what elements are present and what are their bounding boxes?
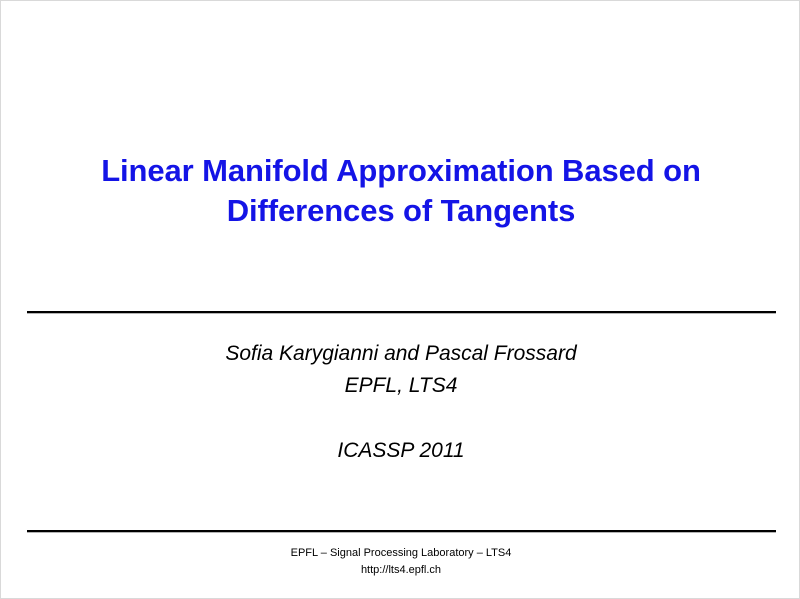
title-line-1: Linear Manifold Approximation Based on: [27, 151, 775, 191]
slide-footer: EPFL – Signal Processing Laboratory – LT…: [1, 537, 800, 599]
body-spacer: [27, 402, 775, 435]
slide-body: Sofia Karygianni and Pascal Frossard EPF…: [27, 338, 775, 467]
divider-top-shadow: [27, 313, 776, 314]
slide-title: Linear Manifold Approximation Based on D…: [27, 151, 775, 231]
divider-top: [27, 311, 776, 314]
authors-line: Sofia Karygianni and Pascal Frossard: [27, 338, 775, 370]
footer-url-line: http://lts4.epfl.ch: [151, 562, 651, 579]
footer-lab-line: EPFL – Signal Processing Laboratory – LT…: [151, 545, 651, 562]
conference-line: ICASSP 2011: [27, 435, 775, 467]
divider-bottom: [27, 530, 776, 533]
divider-bottom-shadow: [27, 532, 776, 533]
footer-text-block: EPFL – Signal Processing Laboratory – LT…: [151, 545, 651, 579]
affiliation-line: EPFL, LTS4: [27, 370, 775, 402]
title-line-2: Differences of Tangents: [27, 191, 775, 231]
presentation-slide: Linear Manifold Approximation Based on D…: [0, 0, 800, 599]
